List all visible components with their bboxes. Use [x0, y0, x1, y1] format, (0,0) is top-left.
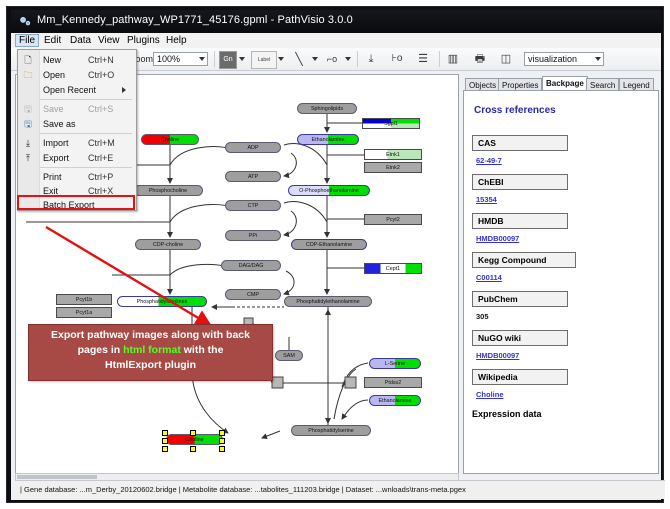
- tab-backpage[interactable]: Backpage: [542, 76, 588, 91]
- zoom-combobox[interactable]: 100%: [153, 52, 208, 66]
- selection-handle-n[interactable]: [190, 430, 196, 436]
- file-menu-popup[interactable]: 🗋 New Ctrl+N 🗀 Open Ctrl+O Open Recent 🖫…: [17, 49, 137, 211]
- pathvisio-icon: [19, 15, 32, 28]
- node-choline-top[interactable]: Choline: [141, 134, 199, 145]
- node-adp[interactable]: ADP: [225, 142, 281, 153]
- zoom-value: 100%: [157, 54, 180, 64]
- new-file-icon: 🗋: [22, 55, 34, 66]
- menu-item-open[interactable]: 🗀 Open Ctrl+O: [18, 68, 136, 82]
- node-atp[interactable]: ATP: [225, 171, 281, 182]
- xref-db-cas: CAS: [472, 135, 568, 151]
- callout-line-2-after: with the: [181, 344, 224, 356]
- menu-data[interactable]: Data: [66, 34, 95, 47]
- xref-value-pubchem: 305: [476, 312, 489, 321]
- menu-item-open-recent[interactable]: Open Recent: [18, 83, 136, 97]
- application-window: Mm_Kennedy_pathway_WP1771_45176.gpml - P…: [6, 6, 664, 503]
- selection-handle-ne[interactable]: [219, 430, 225, 436]
- xref-value-chebi[interactable]: 15354: [476, 195, 497, 204]
- annotation-callout: Export pathway images along with back pa…: [28, 324, 273, 381]
- print-tool-button[interactable]: 🖶: [472, 51, 488, 67]
- gene-product-dropdown-arrow[interactable]: [239, 57, 245, 61]
- menu-item-print[interactable]: Print Ctrl+P: [18, 170, 136, 184]
- selection-handle-se[interactable]: [219, 446, 225, 452]
- center-tool-button[interactable]: ⊦o: [389, 51, 405, 67]
- node-sphingolipids[interactable]: Sphingolipids: [297, 103, 357, 114]
- side-panel-tabs: Objects Properties Backpage Search Legen…: [463, 76, 659, 91]
- chevron-down-icon: [199, 57, 205, 61]
- xref-db-chebi: ChEBI: [472, 174, 568, 190]
- line-dropdown-arrow[interactable]: [312, 57, 318, 61]
- open-folder-icon: 🗀: [22, 70, 34, 81]
- columns-tool-button[interactable]: ▥: [445, 51, 461, 67]
- callout-line-2: pages in html format with the: [29, 343, 272, 358]
- node-ethanolamine-bottom[interactable]: Ethanolamine: [369, 395, 421, 406]
- xref-value-kegg-compound[interactable]: C00114: [476, 273, 502, 282]
- node-ethanolamine-top[interactable]: Ethanolamine: [297, 134, 359, 145]
- xref-value-nugo-wiki[interactable]: HMDB00097: [476, 351, 519, 360]
- xref-db-wikipedia: Wikipedia: [472, 369, 568, 385]
- window-title: Mm_Kennedy_pathway_WP1771_45176.gpml - P…: [37, 14, 353, 26]
- gene-pcyt1a[interactable]: Pcyt1a: [56, 307, 112, 318]
- selection-handle-sw[interactable]: [162, 446, 168, 452]
- interaction-tool-button[interactable]: ⌐o: [324, 51, 340, 67]
- status-bar: | Gene database: ...m_Derby_20120602.bri…: [15, 480, 665, 499]
- xref-db-hmdb: HMDB: [472, 213, 568, 229]
- gene-sgpl1[interactable]: Sgpl1: [362, 118, 420, 129]
- status-text: | Gene database: ...m_Derby_20120602.bri…: [20, 485, 466, 494]
- menu-view[interactable]: View: [94, 34, 124, 47]
- gene-ptdss2[interactable]: Ptdss2: [364, 377, 422, 388]
- menu-item-import[interactable]: ⤓ Import Ctrl+M: [18, 136, 136, 150]
- save-as-icon: 🖫: [22, 119, 34, 130]
- xref-db-nugo-wiki: NuGO wiki: [472, 330, 568, 346]
- callout-line-3: HtmlExport plugin: [29, 358, 272, 373]
- export-icon: ⤒: [22, 153, 34, 164]
- interaction-dropdown-arrow[interactable]: [345, 57, 351, 61]
- import-icon: ⤓: [22, 138, 34, 149]
- align-tool-button[interactable]: ⤓: [363, 51, 379, 67]
- node-cdp-choline[interactable]: CDP-choline: [135, 239, 201, 250]
- side-panel: Objects Properties Backpage Search Legen…: [461, 74, 661, 478]
- xref-value-cas[interactable]: 62-49-7: [476, 156, 502, 165]
- callout-line-2-before: pages in: [78, 344, 124, 356]
- title-bar[interactable]: Mm_Kennedy_pathway_WP1771_45176.gpml - P…: [11, 10, 661, 32]
- backpage-content[interactable]: Cross references CAS 62-49-7 ChEBI 15354…: [463, 90, 659, 474]
- label-tool-button[interactable]: Label: [251, 51, 277, 69]
- expression-data-heading: Expression data: [472, 409, 542, 419]
- selection-handle-nw[interactable]: [162, 430, 168, 436]
- xref-db-pubchem: PubChem: [472, 291, 568, 307]
- node-phosphatidylethanolamine[interactable]: Phosphatidylethanolamine: [284, 296, 372, 307]
- callout-line-1: Export pathway images along with back: [29, 328, 272, 343]
- callout-highlight: html format: [123, 344, 181, 356]
- node-sam[interactable]: SAM: [275, 350, 303, 361]
- menu-help[interactable]: Help: [162, 34, 191, 47]
- cross-references-heading: Cross references: [474, 105, 556, 116]
- node-phosphatidylcholines[interactable]: Phosphatidylcholines: [117, 296, 207, 307]
- menu-file[interactable]: File: [15, 34, 39, 47]
- scrollbar-thumb[interactable]: [17, 475, 97, 479]
- menu-bar: File Edit Data View Plugins Help: [11, 33, 661, 49]
- gene-pcyt1b[interactable]: Pcyt1b: [56, 294, 112, 305]
- node-l-serine[interactable]: L-Serine: [369, 358, 421, 369]
- save-disk-icon: 🖫: [22, 104, 34, 115]
- node-phosphatidylserine[interactable]: Phosphatidylserine: [291, 425, 371, 436]
- selection-handle-s[interactable]: [190, 446, 196, 452]
- menu-item-export[interactable]: ⤒ Export Ctrl+E: [18, 151, 136, 165]
- visualization-value: visualization: [528, 54, 577, 64]
- node-dag-dag[interactable]: DAG/DAG: [221, 260, 281, 271]
- menu-item-new[interactable]: 🗋 New Ctrl+N: [18, 53, 136, 67]
- gene-etnk2[interactable]: Etnk2: [364, 162, 422, 173]
- label-dropdown-arrow[interactable]: [278, 57, 284, 61]
- xref-value-wikipedia[interactable]: Choline: [476, 390, 504, 399]
- selection-handle-e[interactable]: [219, 438, 225, 444]
- screenshot-root: Mm_Kennedy_pathway_WP1771_45176.gpml - P…: [0, 0, 670, 509]
- window-content: File Edit Data View Plugins Help 🗋 🗀 🖫 ↺…: [11, 33, 661, 500]
- node-o-phosphoethanolamine[interactable]: O-Phosphoethanolamine: [288, 185, 370, 196]
- menu-edit[interactable]: Edit: [40, 34, 65, 47]
- xref-value-hmdb[interactable]: HMDB00097: [476, 234, 519, 243]
- node-ppi[interactable]: PPi: [225, 230, 281, 241]
- node-phosphocholine[interactable]: Phosphocholine: [133, 185, 203, 196]
- menu-item-save: 🖫 Save Ctrl+S: [18, 102, 136, 116]
- visualization-combobox[interactable]: visualization: [524, 52, 604, 66]
- node-ctp[interactable]: CTP: [225, 200, 281, 211]
- node-cmp[interactable]: CMP: [225, 289, 281, 300]
- menu-item-save-as[interactable]: 🖫 Save as: [18, 117, 136, 131]
- gene-cept1[interactable]: Cept1: [364, 263, 422, 274]
- batch-export-highlight: [17, 195, 135, 210]
- selection-handle-w[interactable]: [162, 438, 168, 444]
- stack-tool-button[interactable]: ☰: [415, 51, 431, 67]
- gene-etnk1[interactable]: Etnk1: [364, 149, 422, 160]
- xref-db-kegg-compound: Kegg Compound: [472, 252, 576, 268]
- chevron-down-icon: [595, 57, 601, 61]
- sidebar-tool-button[interactable]: ◫: [498, 51, 514, 67]
- menu-plugins[interactable]: Plugins: [123, 34, 164, 47]
- line-tool-button[interactable]: ╲: [291, 51, 307, 67]
- node-cdp-ethanolamine[interactable]: CDP-Ethanolamine: [291, 239, 367, 250]
- chevron-right-icon: [122, 87, 126, 93]
- gene-product-tool-button[interactable]: Gn: [219, 51, 237, 69]
- gene-pcyt2[interactable]: Pcyt2: [364, 214, 422, 225]
